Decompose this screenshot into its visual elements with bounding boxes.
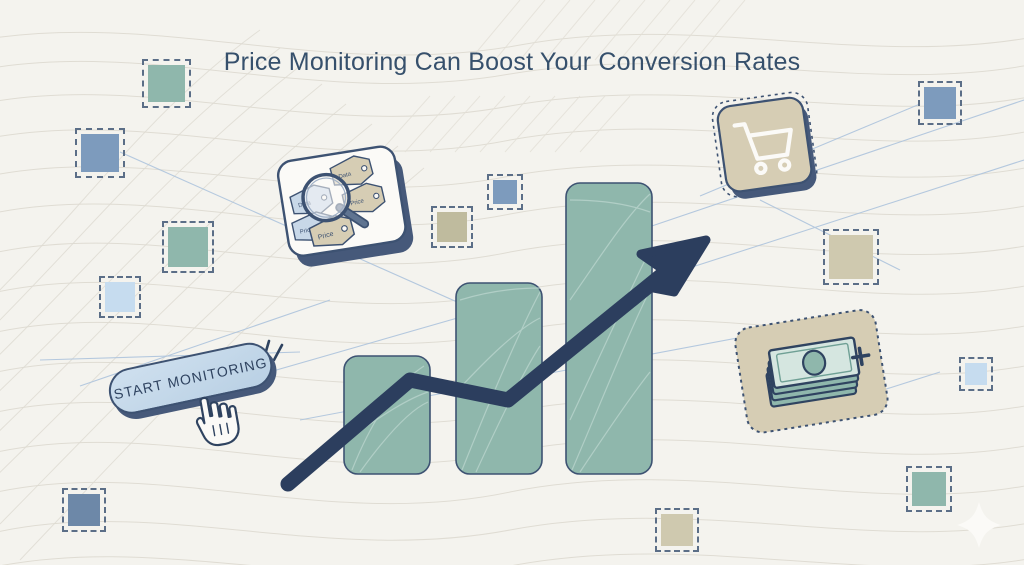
illustration-banner: Price Monitoring Can Boost Your Conversi… xyxy=(0,0,1024,565)
foreground-layer xyxy=(0,0,1024,565)
hand-pointer-icon xyxy=(193,393,241,448)
